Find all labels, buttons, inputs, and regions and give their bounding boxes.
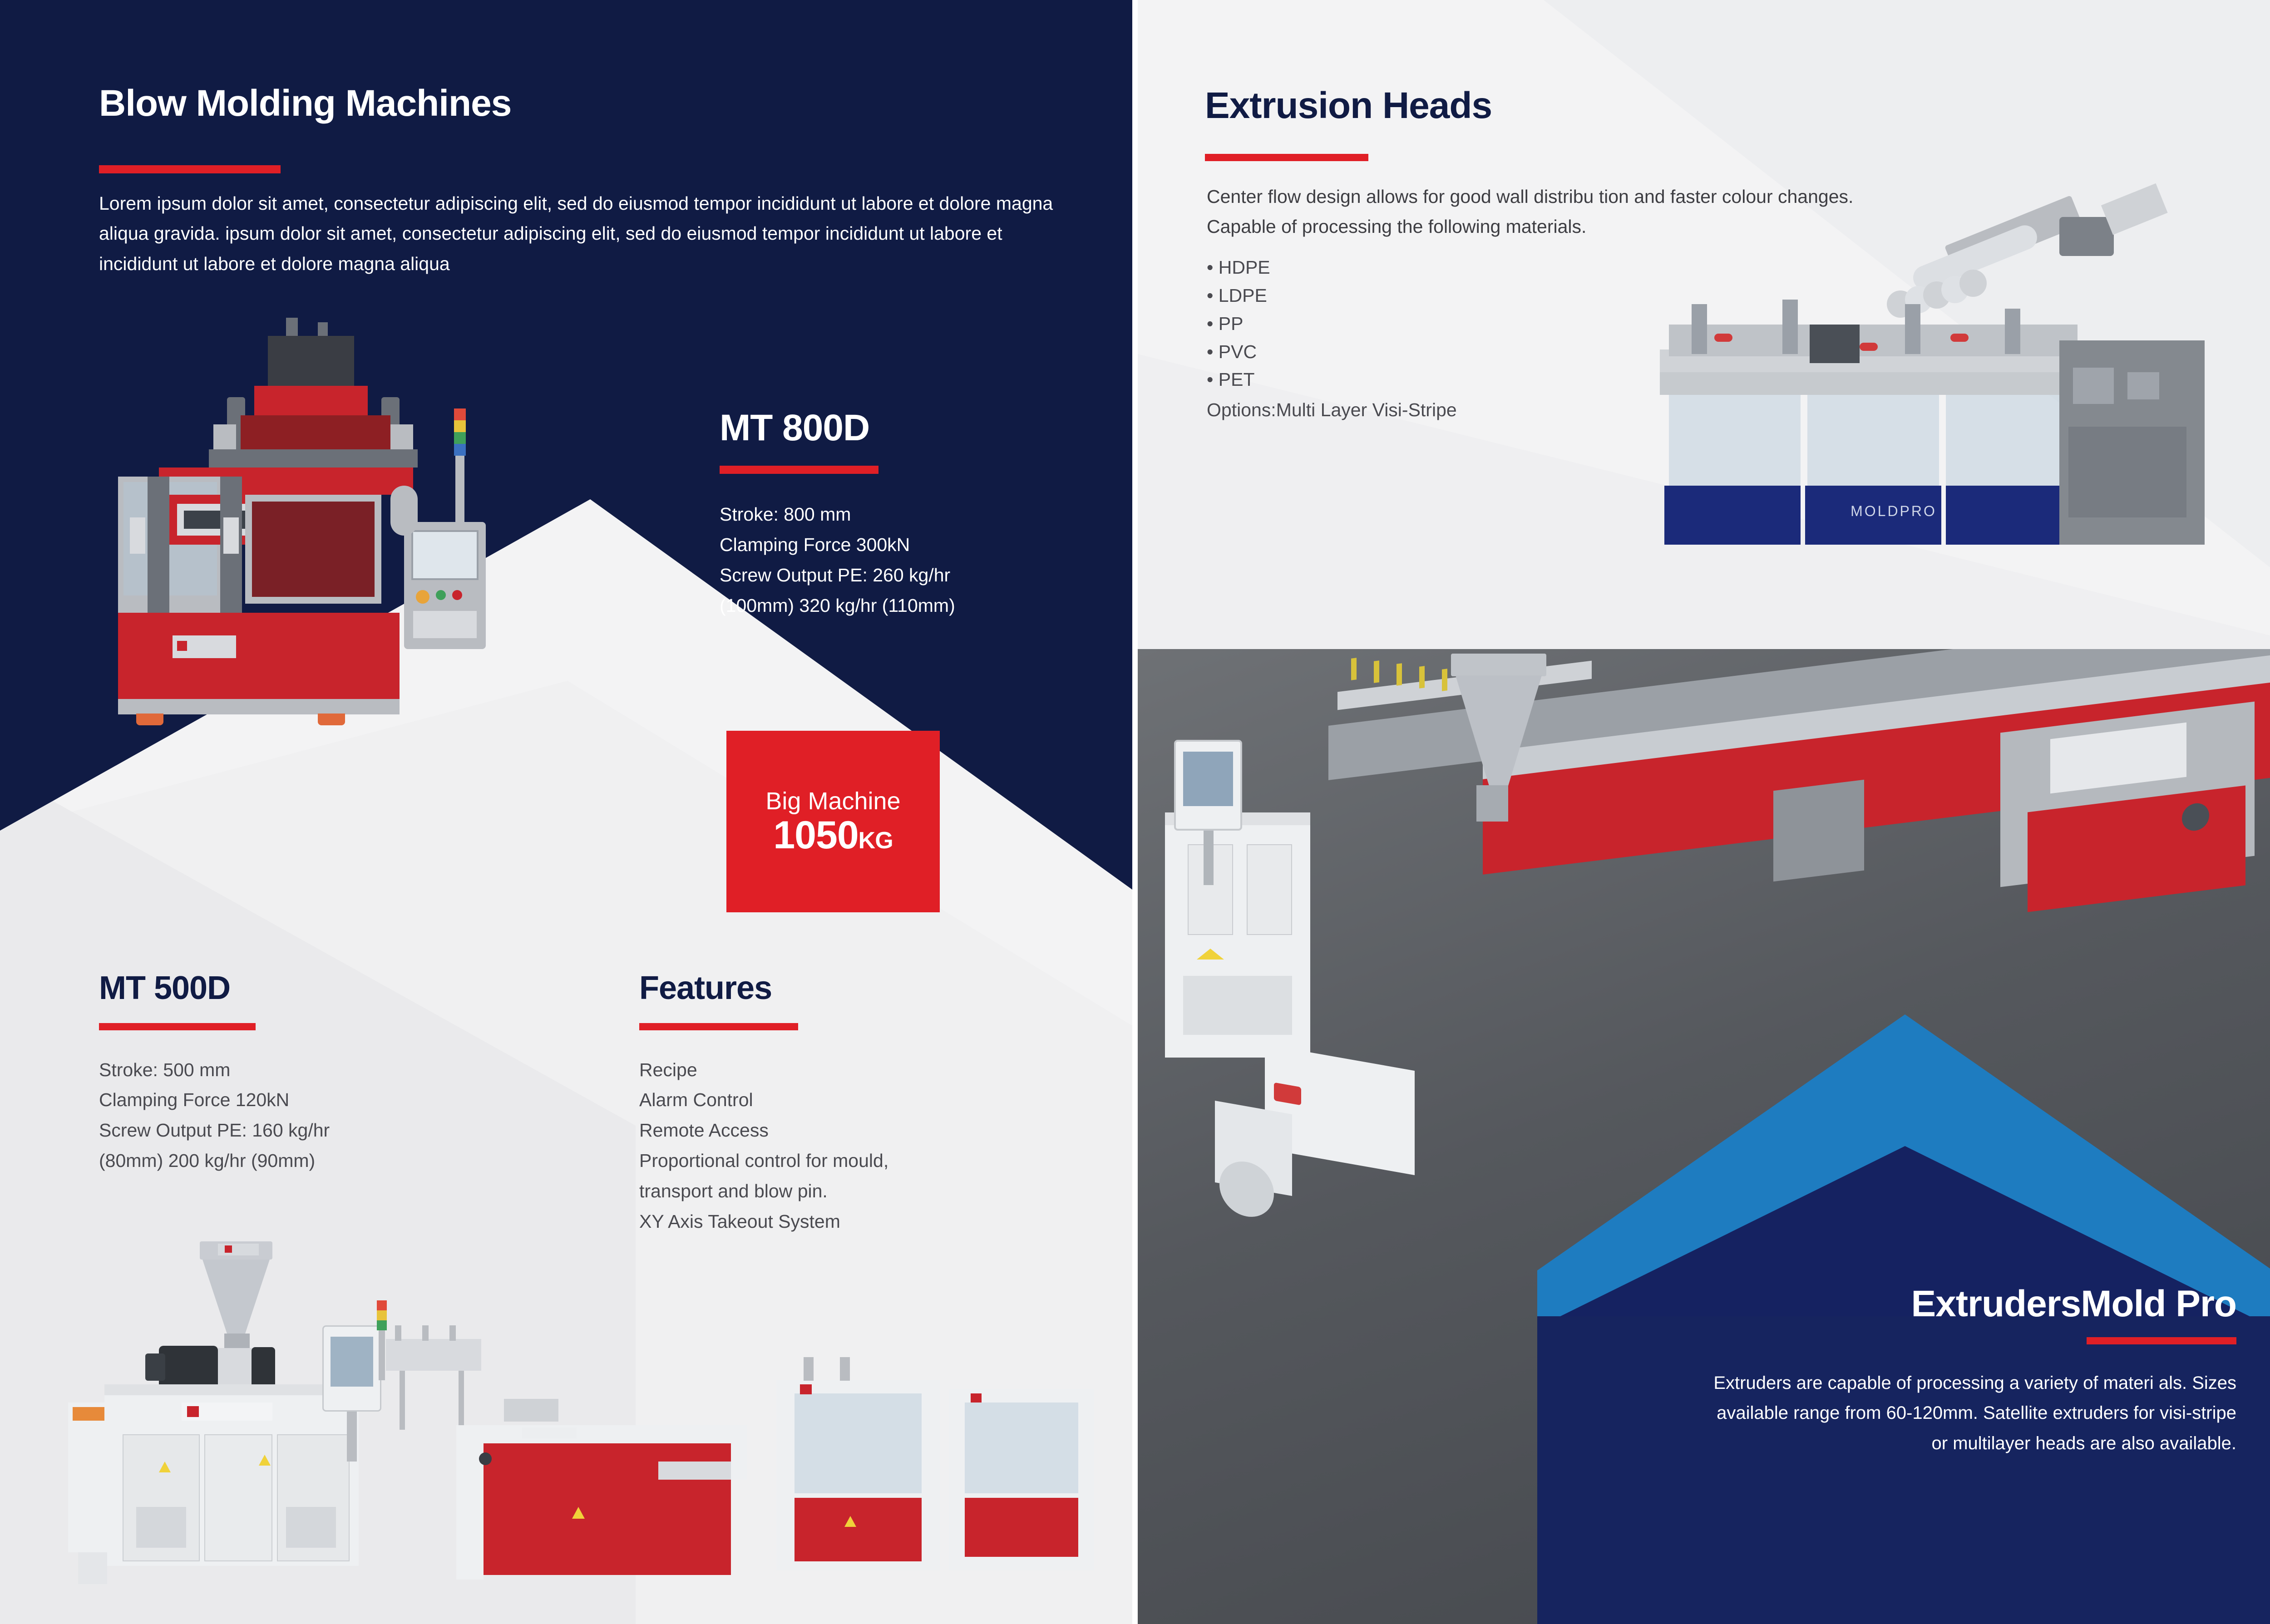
big-machine-unit: KG <box>859 827 893 854</box>
big-machine-number: 1050 <box>773 813 858 857</box>
feature-item: Proportional control for mould, <box>639 1146 1093 1176</box>
mt800d-spec: Screw Output PE: 260 kg/hr <box>720 560 1083 591</box>
mt800d-rule <box>720 466 878 474</box>
page-divider <box>1132 0 1138 1624</box>
features-title: Features <box>639 971 1093 1006</box>
right-page: Extrusion Heads Center flow design allow… <box>1138 0 2270 1624</box>
extruders-mold-pro-rule <box>2087 1337 2236 1344</box>
extrusion-heads-heading: Extrusion Heads <box>1205 86 1492 125</box>
mt800d-machine-photo <box>91 318 604 799</box>
mt500d-spec: Clamping Force 120kN <box>99 1085 553 1115</box>
extrusion-head-render: MOLDPRO <box>1660 236 2270 554</box>
extruders-mold-pro-paragraph: Extruders are capable of processing a va… <box>1701 1368 2236 1458</box>
extruders-mold-pro-title: ExtrudersMold Pro <box>1701 1284 2236 1324</box>
mt500d-spec: Screw Output PE: 160 kg/hr <box>99 1115 553 1146</box>
feature-item: Remote Access <box>639 1115 1093 1146</box>
blow-molding-heading: Blow Molding Machines <box>99 84 511 123</box>
big-machine-badge: Big Machine 1050KG <box>726 731 940 912</box>
blow-molding-paragraph: Lorem ipsum dolor sit amet, consectetur … <box>99 188 1066 279</box>
left-page: Blow Molding Machines Lorem ipsum dolor … <box>0 0 1132 1624</box>
mt500d-info-block: MT 500D Stroke: 500 mm Clamping Force 12… <box>99 971 553 1176</box>
extrusion-intro-line: Center flow design allows for good wall … <box>1207 182 2092 212</box>
mt500d-extrusion-line-photo <box>68 1189 1132 1589</box>
mt500d-title: MT 500D <box>99 971 553 1006</box>
mt800d-title: MT 800D <box>720 408 1083 448</box>
big-machine-label: Big Machine <box>765 787 900 815</box>
extruders-mold-pro-block: ExtrudersMold Pro Extruders are capable … <box>1701 1284 2236 1458</box>
mt500d-specs: Stroke: 500 mm Clamping Force 120kN Scre… <box>99 1055 553 1176</box>
brochure-spread: Blow Molding Machines Lorem ipsum dolor … <box>0 0 2270 1624</box>
mt800d-info-block: MT 800D Stroke: 800 mm Clamping Force 30… <box>720 408 1083 620</box>
blow-molding-heading-rule <box>99 165 281 173</box>
feature-item: Recipe <box>639 1055 1093 1085</box>
mt500d-rule <box>99 1023 256 1030</box>
features-rule <box>639 1023 798 1030</box>
mt800d-spec: Stroke: 800 mm <box>720 499 1083 530</box>
big-machine-value: 1050KG <box>773 815 893 856</box>
mt800d-spec: Clamping Force 300kN <box>720 530 1083 560</box>
mt800d-specs: Stroke: 800 mm Clamping Force 300kN Scre… <box>720 499 1083 620</box>
extrusion-heads-rule <box>1205 154 1368 161</box>
mt500d-spec: Stroke: 500 mm <box>99 1055 553 1085</box>
mt500d-spec: (80mm) 200 kg/hr (90mm) <box>99 1146 553 1176</box>
feature-item: Alarm Control <box>639 1085 1093 1115</box>
mt800d-spec: (100mm) 320 kg/hr (110mm) <box>720 591 1083 621</box>
moldpro-brand-plate: MOLDPRO <box>1841 503 1946 521</box>
